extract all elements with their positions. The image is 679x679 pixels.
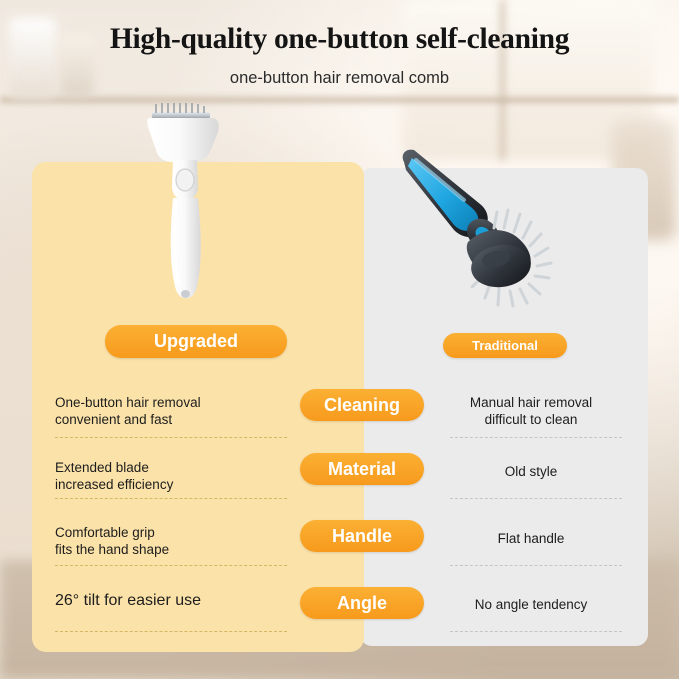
badge-traditional: Traditional bbox=[443, 333, 567, 358]
divider-right-2 bbox=[450, 498, 622, 499]
page-subtitle: one-button hair removal comb bbox=[0, 69, 679, 88]
traditional-product-image bbox=[398, 146, 558, 316]
upgraded-feature-material: Extended blade increased efficiency bbox=[55, 459, 287, 493]
divider-left-1 bbox=[55, 437, 287, 438]
category-cleaning: Cleaning bbox=[300, 389, 424, 421]
upgraded-feature-angle: 26° tilt for easier use bbox=[55, 592, 287, 609]
traditional-feature-material: Old style bbox=[435, 463, 627, 480]
page-title: High-quality one-button self-cleaning bbox=[0, 23, 679, 56]
traditional-feature-cleaning: Manual hair removal difficult to clean bbox=[435, 394, 627, 428]
badge-upgraded: Upgraded bbox=[105, 325, 287, 358]
upgraded-feature-cleaning: One-button hair removal convenient and f… bbox=[55, 394, 287, 428]
divider-right-3 bbox=[450, 565, 622, 566]
category-material: Material bbox=[300, 453, 424, 485]
divider-left-2 bbox=[55, 498, 287, 499]
upgraded-feature-handle: Comfortable grip fits the hand shape bbox=[55, 524, 287, 558]
upgraded-product-image bbox=[140, 100, 232, 312]
divider-right-1 bbox=[450, 437, 622, 438]
divider-left-4 bbox=[55, 631, 287, 632]
traditional-feature-handle: Flat handle bbox=[435, 530, 627, 547]
background-shelf bbox=[0, 96, 679, 103]
traditional-feature-angle: No angle tendency bbox=[435, 596, 627, 613]
category-angle: Angle bbox=[300, 587, 424, 619]
divider-right-4 bbox=[450, 631, 622, 632]
divider-left-3 bbox=[55, 565, 287, 566]
category-handle: Handle bbox=[300, 520, 424, 552]
